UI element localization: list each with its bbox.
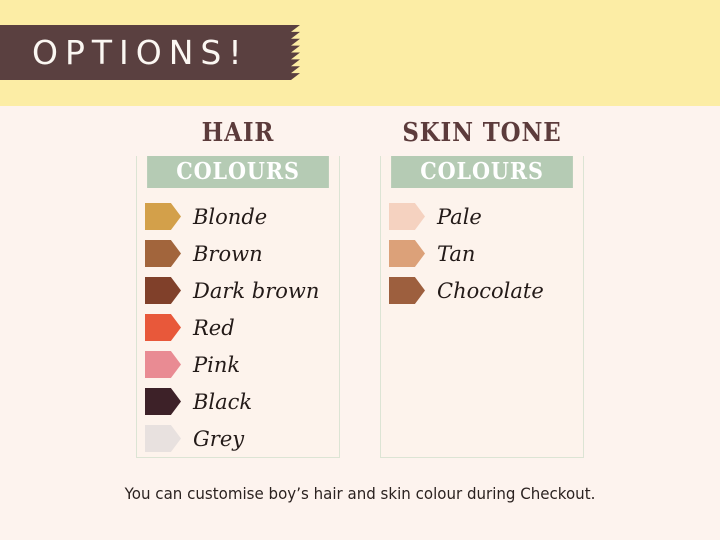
list-item[interactable]: Pale — [381, 198, 583, 235]
colour-swatch-icon — [145, 388, 181, 415]
skin-panel-header: COLOURS — [391, 156, 573, 188]
skin-swatch-list: Pale Tan Chocolate — [381, 188, 583, 309]
list-item[interactable]: Pink — [137, 346, 339, 383]
swatch-label: Pink — [193, 353, 240, 377]
list-item[interactable]: Blonde — [137, 198, 339, 235]
hair-colour-column: HAIR COLOURS Blonde Brown Dark brown — [136, 118, 340, 458]
hair-panel-header: COLOURS — [147, 156, 329, 188]
customise-caption: You can customise boy’s hair and skin co… — [22, 484, 699, 503]
list-item[interactable]: Red — [137, 309, 339, 346]
hair-swatch-list: Blonde Brown Dark brown Red Pink — [137, 188, 339, 457]
swatch-label: Dark brown — [193, 279, 319, 303]
swatch-label: Chocolate — [437, 279, 544, 303]
list-item[interactable]: Brown — [137, 235, 339, 272]
hair-colour-panel: COLOURS Blonde Brown Dark brown Red — [136, 156, 340, 458]
banner-title: OPTIONS! — [32, 25, 249, 80]
hair-column-title: HAIR — [148, 118, 328, 150]
swatch-label: Grey — [193, 427, 244, 451]
colour-swatch-icon — [389, 277, 425, 304]
colour-swatch-icon — [145, 203, 181, 230]
colour-swatch-icon — [145, 425, 181, 452]
list-item[interactable]: Tan — [381, 235, 583, 272]
list-item[interactable]: Black — [137, 383, 339, 420]
colour-swatch-icon — [145, 277, 181, 304]
colour-swatch-icon — [145, 351, 181, 378]
colour-swatch-icon — [145, 240, 181, 267]
colour-swatch-icon — [389, 240, 425, 267]
options-columns: HAIR COLOURS Blonde Brown Dark brown — [0, 118, 720, 478]
swatch-label: Red — [193, 316, 235, 340]
swatch-label: Pale — [437, 205, 482, 229]
colour-swatch-icon — [145, 314, 181, 341]
swatch-label: Black — [193, 390, 252, 414]
swatch-label: Brown — [193, 242, 263, 266]
skin-tone-column: SKIN TONE COLOURS Pale Tan Chocolate — [380, 118, 584, 458]
swatch-label: Tan — [437, 242, 475, 266]
swatch-label: Blonde — [193, 205, 267, 229]
options-ribbon-banner: OPTIONS! — [0, 25, 300, 80]
colour-swatch-icon — [389, 203, 425, 230]
skin-colour-panel: COLOURS Pale Tan Chocolate — [380, 156, 584, 458]
list-item[interactable]: Dark brown — [137, 272, 339, 309]
list-item[interactable]: Chocolate — [381, 272, 583, 309]
list-item[interactable]: Grey — [137, 420, 339, 457]
skin-column-title: SKIN TONE — [392, 118, 572, 150]
ribbon-zigzag-edge-icon — [281, 25, 300, 80]
